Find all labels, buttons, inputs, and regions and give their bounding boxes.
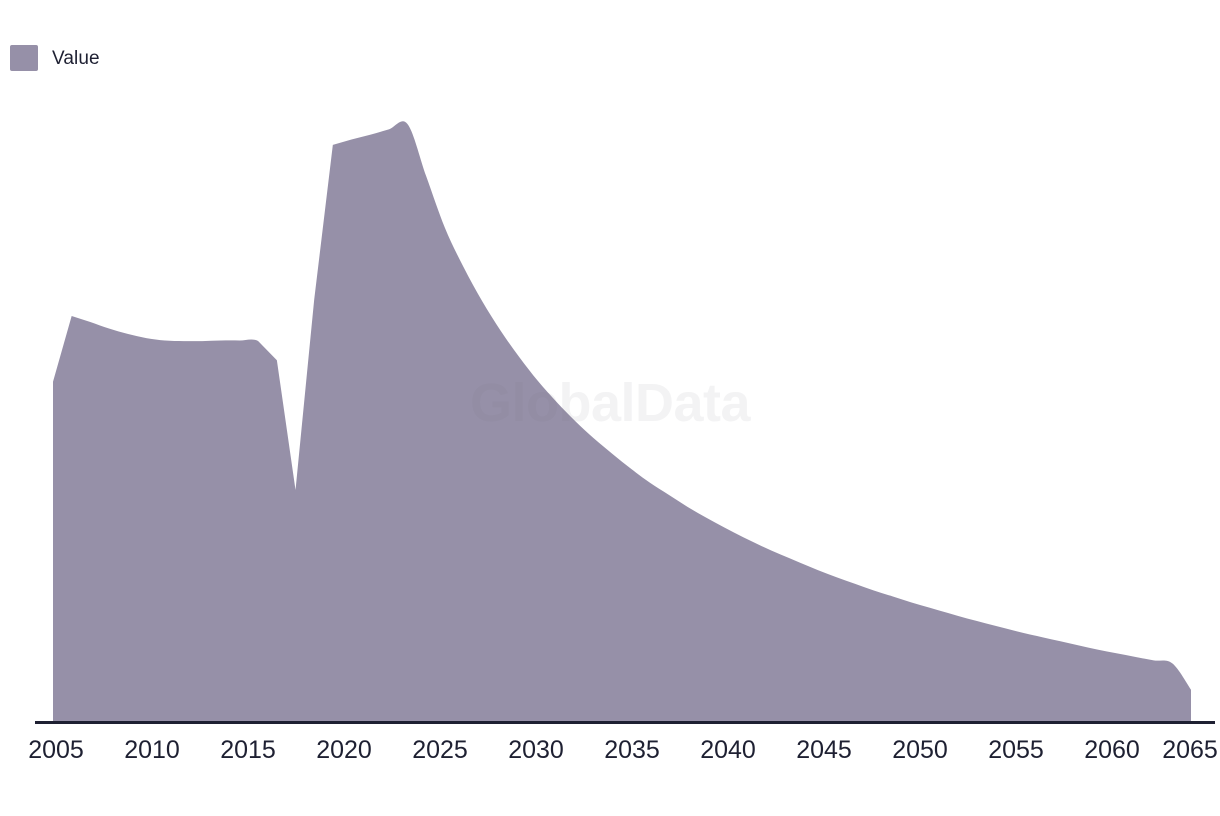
x-tick-label: 2045 (796, 733, 852, 767)
x-tick-label: 2005 (28, 733, 84, 767)
area-chart-figure: Value GlobalData 20052010201520202025203… (0, 0, 1220, 816)
x-axis-tick-labels: 2005201020152020202520302035204020452050… (0, 733, 1220, 773)
x-tick-label: 2055 (988, 733, 1044, 767)
x-tick-label: 2030 (508, 733, 564, 767)
x-tick-label: 2025 (412, 733, 468, 767)
x-tick-label: 2050 (892, 733, 948, 767)
x-tick-label: 2020 (316, 733, 372, 767)
x-tick-label: 2060 (1084, 733, 1140, 767)
x-tick-label: 2035 (604, 733, 660, 767)
series-area-value (53, 121, 1191, 722)
x-tick-label: 2065 (1162, 733, 1218, 767)
plot-area (0, 0, 1220, 816)
area-chart-svg (0, 0, 1220, 816)
x-tick-label: 2010 (124, 733, 180, 767)
x-tick-label: 2015 (220, 733, 276, 767)
x-tick-label: 2040 (700, 733, 756, 767)
